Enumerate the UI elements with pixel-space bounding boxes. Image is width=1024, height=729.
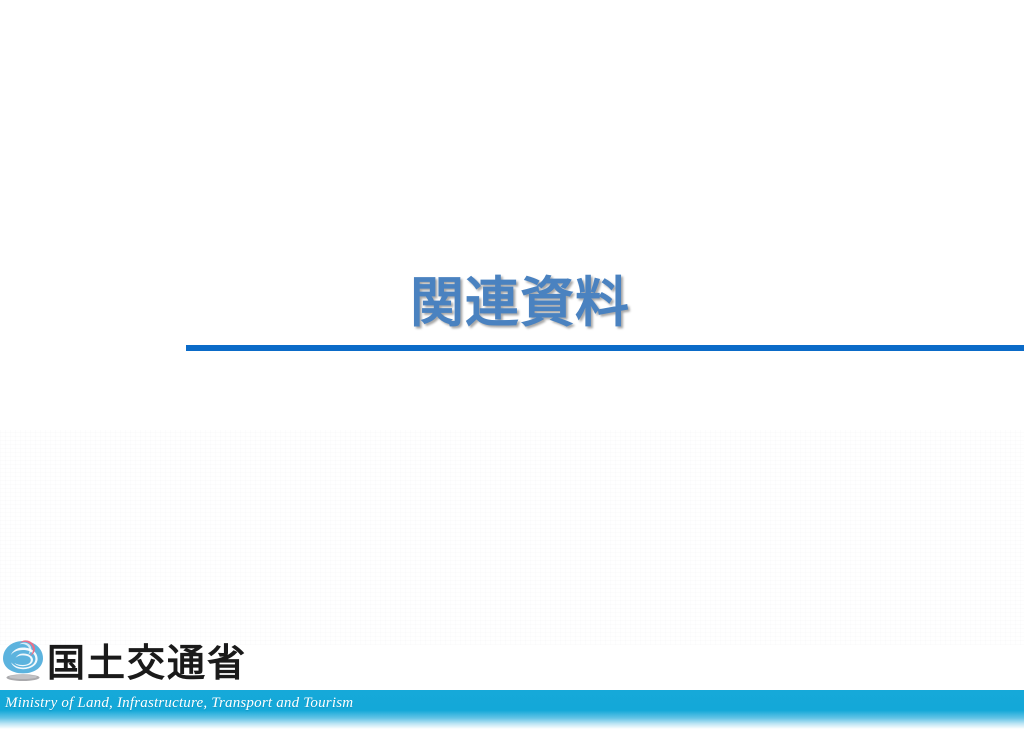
mlit-name-jp: 国土交通省	[47, 641, 247, 685]
mlit-emblem-icon	[2, 638, 44, 682]
section-title-block: 関連資料	[0, 272, 1024, 352]
mlit-name-en: Ministry of Land, Infrastructure, Transp…	[5, 692, 353, 714]
mlit-logo: 国土交通省	[0, 636, 260, 688]
footer-band: Ministry of Land, Infrastructure, Transp…	[0, 690, 1024, 729]
presentation-slide: 関連資料 国土交通省 Ministry of Land, In	[0, 0, 1024, 729]
background-texture	[0, 430, 1024, 645]
page-title: 関連資料	[0, 272, 630, 334]
title-underline-rule	[186, 345, 1024, 351]
